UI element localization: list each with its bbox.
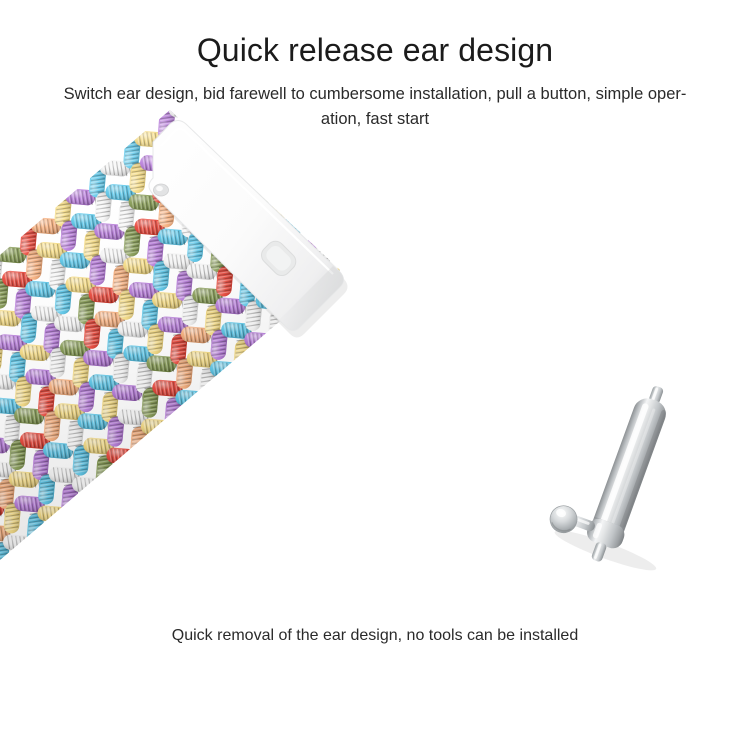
braid-strand-segment: [31, 184, 49, 217]
braid-strand-segment: [181, 414, 214, 432]
braid-strand-segment: [193, 430, 211, 463]
braid-strand-segment: [342, 396, 375, 414]
braid-strand-segment: [41, 178, 74, 196]
braid-strand-segment: [337, 339, 355, 372]
braid-strand-segment: [371, 222, 389, 255]
braid-strand-segment: [342, 308, 375, 326]
braid-strand-segment: [383, 567, 416, 585]
connector-pin-nub: [154, 184, 169, 196]
braid-strand-segment: [262, 460, 280, 493]
braid-strand-segment: [268, 396, 286, 429]
braid-strand-segment: [313, 361, 346, 379]
braid-strand-segment: [175, 477, 208, 495]
braid-strand-segment: [319, 177, 337, 210]
braid-strand-segment: [291, 494, 309, 527]
product-feature-image: Quick release ear design Switch ear desi…: [0, 0, 750, 750]
braid-strand-segment: [182, 557, 200, 590]
braid-strand-segment: [307, 337, 340, 355]
braid-strand-segment: [36, 153, 69, 171]
braid-strand-segment: [280, 533, 298, 566]
subtitle-line-1: Switch ear design, bid farewell to cumbe…: [25, 82, 725, 107]
braid-strand-segment: [0, 189, 9, 222]
braid-strand-segment: [418, 505, 436, 538]
braid-strand-segment: [406, 281, 424, 314]
braid-strand-segment: [95, 574, 128, 592]
braid-strand-segment: [169, 540, 202, 558]
braid-strand-segment: [204, 391, 222, 424]
braid-strand-segment: [198, 575, 231, 593]
braid-strand-segment: [164, 516, 197, 534]
braid-strand-segment: [43, 529, 76, 547]
braid-strand-segment: [164, 604, 197, 622]
braid-strand-segment: [245, 562, 263, 595]
braid-strand-segment: [211, 591, 229, 624]
braid-strand-segment: [267, 517, 300, 535]
braid-strand-segment: [302, 400, 335, 418]
braid-strand-segment: [158, 579, 191, 597]
braid-strand-segment: [285, 470, 303, 503]
braid-strand-segment: [382, 183, 400, 216]
braid-strand-segment: [364, 142, 397, 160]
braid-strand-segment: [210, 448, 243, 466]
braid-strand-segment: [297, 431, 315, 464]
braid-strand-segment: [400, 465, 433, 483]
braid-strand-segment: [307, 425, 340, 443]
braid-strand-segment: [354, 533, 387, 551]
braid-strand-segment: [296, 343, 314, 376]
braid-strand-segment: [354, 412, 372, 445]
braid-strand-segment: [412, 481, 430, 514]
braid-strand-segment: [353, 269, 386, 287]
braid-strand-segment: [237, 131, 270, 149]
braid-strand-segment: [60, 603, 93, 621]
braid-strand-segment: [65, 155, 83, 188]
braid-strand-segment: [278, 390, 311, 408]
braid-strand-segment: [260, 141, 293, 159]
braid-strand-segment: [21, 574, 39, 607]
braid-strand-segment: [112, 472, 145, 490]
braid-strand-segment: [95, 541, 113, 574]
braid-strand-segment: [377, 246, 395, 279]
braid-strand-segment: [106, 535, 139, 553]
braid-strand-segment: [330, 435, 363, 453]
spring-bar-pin-image: [510, 375, 740, 590]
braid-strand-segment: [383, 447, 401, 480]
braid-strand-segment: [7, 207, 40, 225]
braid-strand-segment: [295, 200, 328, 218]
braid-strand-segment: [325, 586, 358, 604]
braid-strand-segment: [159, 459, 177, 492]
braid-strand-segment: [387, 240, 420, 258]
braid-strand-segment: [360, 557, 393, 575]
braid-strand-segment: [0, 563, 1, 581]
braid-strand-segment: [204, 424, 237, 442]
braid-strand-segment: [331, 523, 364, 541]
braid-strand-segment: [256, 556, 289, 574]
braid-strand-segment: [400, 256, 418, 289]
braid-strand-segment: [170, 420, 188, 453]
braid-strand-segment: [193, 518, 211, 551]
braid-strand-segment: [84, 580, 102, 613]
braid-strand-segment: [371, 310, 389, 343]
braid-strand-segment: [100, 510, 133, 528]
braid-strand-segment: [37, 593, 70, 611]
braid-strand-segment: [279, 182, 297, 215]
braid-strand-segment: [72, 564, 105, 582]
braid-strand-segment: [90, 517, 108, 550]
braid-strand-segment: [331, 314, 349, 347]
braid-strand-segment: [382, 216, 415, 234]
braid-strand-segment: [262, 581, 295, 599]
braid-strand-segment: [188, 581, 206, 614]
braid-strand-segment: [389, 471, 407, 504]
braid-strand-segment: [394, 440, 427, 458]
braid-strand-segment: [101, 598, 134, 616]
braid-strand-segment: [371, 430, 404, 448]
braid-strand-segment: [370, 342, 403, 360]
watch-band-image: [0, 150, 470, 690]
braid-strand-segment: [233, 425, 251, 458]
braid-strand-segment: [8, 558, 41, 576]
braid-strand-segment: [124, 488, 142, 521]
braid-strand-segment: [347, 245, 380, 263]
subtitle: Switch ear design, bid farewell to cumbe…: [25, 69, 725, 132]
braid-strand-segment: [309, 568, 327, 601]
braid-strand-segment: [412, 602, 445, 620]
braid-strand-segment: [324, 147, 357, 165]
braid-strand-segment: [389, 383, 407, 416]
braid-strand-segment: [418, 418, 436, 451]
braid-strand-segment: [198, 487, 231, 505]
braid-strand-segment: [410, 250, 443, 268]
braid-strand-segment: [296, 464, 329, 482]
braid-strand-segment: [389, 592, 422, 610]
braid-strand-segment: [124, 608, 157, 626]
braid-strand-segment: [376, 367, 409, 385]
braid-strand-segment: [343, 539, 361, 572]
braid-strand-segment: [250, 356, 283, 374]
braid-strand-segment: [135, 482, 168, 500]
braid-strand-segment: [238, 395, 271, 413]
braid-strand-segment: [77, 500, 110, 518]
braid-strand-segment: [257, 523, 275, 556]
braid-strand-segment: [135, 569, 168, 587]
braid-strand-segment: [250, 147, 268, 180]
band-weave: [0, 44, 445, 635]
braid-strand-segment: [411, 130, 429, 163]
spring-bar-assembly: [541, 375, 715, 581]
braid-strand-segment: [395, 408, 413, 441]
braid-strand-segment: [256, 435, 274, 468]
braid-strand-segment: [315, 592, 333, 625]
braid-strand-segment: [349, 563, 367, 596]
braid-strand-segment: [365, 406, 398, 424]
braid-strand-segment: [227, 522, 260, 540]
braid-strand-segment: [291, 406, 309, 439]
braid-strand-segment: [273, 454, 306, 472]
braid-strand-segment: [348, 212, 366, 245]
braid-strand-segment: [273, 366, 306, 384]
braid-strand-segment: [216, 528, 234, 561]
spring-bar-illustration: [510, 375, 740, 590]
braid-strand-segment: [399, 377, 432, 395]
braid-strand-segment: [164, 483, 182, 516]
braid-strand-segment: [372, 573, 390, 606]
braid-strand-segment: [221, 585, 254, 603]
braid-strand-segment: [76, 149, 109, 167]
braid-strand-segment: [0, 564, 16, 597]
braid-strand-segment: [302, 368, 320, 401]
braid-strand-segment: [388, 504, 421, 522]
braid-strand-segment: [238, 483, 271, 501]
braid-strand-segment: [302, 488, 335, 506]
braid-strand-segment: [59, 131, 77, 164]
braid-strand-segment: [325, 498, 358, 516]
braid-strand-segment: [360, 436, 378, 469]
braid-strand-segment: [101, 478, 119, 511]
braid-strand-segment: [267, 429, 300, 447]
braid-strand-segment: [320, 529, 338, 562]
braid-strand-segment: [331, 402, 349, 435]
braid-strand-segment: [233, 546, 266, 564]
braid-strand-segment: [169, 453, 202, 471]
braid-strand-segment: [135, 449, 153, 482]
braid-strand-segment: [349, 475, 367, 508]
braid-strand-segment: [222, 552, 240, 585]
footer-caption: Quick removal of the ear design, no tool…: [0, 625, 750, 647]
braid-strand-segment: [412, 569, 430, 602]
braid-strand-segment: [342, 187, 360, 220]
braid-strand-segment: [318, 210, 351, 228]
braid-strand-segment: [407, 544, 425, 577]
braid-strand-segment: [251, 587, 269, 620]
braid-strand-segment: [325, 378, 343, 411]
braid-strand-segment: [384, 534, 402, 567]
braid-strand-segment: [360, 349, 378, 382]
braid-strand-segment: [215, 385, 248, 403]
braid-strand-segment: [0, 597, 30, 615]
braid-strand-segment: [326, 465, 344, 498]
braid-strand-segment: [378, 510, 396, 543]
braid-strand-segment: [130, 512, 148, 545]
watch-band-illustration: [0, 150, 470, 690]
braid-strand-segment: [405, 401, 438, 419]
subtitle-line-2: ation, fast start: [25, 107, 725, 132]
braid-strand-segment: [411, 338, 444, 356]
page-title: Quick release ear design: [0, 0, 750, 69]
braid-strand-segment: [411, 217, 429, 250]
braid-strand-segment: [290, 143, 308, 176]
braid-strand-segment: [394, 320, 412, 353]
braid-strand-segment: [67, 507, 85, 540]
braid-strand-segment: [159, 547, 177, 580]
braid-strand-segment: [314, 504, 332, 537]
braid-strand-segment: [1, 182, 34, 200]
braid-strand-segment: [301, 137, 334, 155]
braid-strand-segment: [187, 493, 205, 526]
braid-strand-segment: [320, 441, 338, 474]
braid-strand-segment: [324, 235, 357, 253]
braid-strand-segment: [347, 332, 380, 350]
braid-strand-segment: [244, 419, 277, 437]
braid-strand-segment: [222, 464, 240, 497]
braid-strand-segment: [359, 469, 392, 487]
braid-strand-segment: [394, 528, 427, 546]
braid-strand-segment: [376, 279, 409, 297]
braid-strand-segment: [336, 459, 369, 477]
braid-strand-segment: [313, 153, 331, 186]
braid-strand-segment: [204, 512, 237, 530]
braid-strand-segment: [193, 550, 226, 568]
braid-strand-segment: [393, 177, 426, 195]
braid-strand-segment: [330, 171, 363, 189]
braid-strand-segment: [0, 213, 15, 246]
braid-strand-segment: [336, 371, 369, 389]
braid-strand-segment: [366, 373, 384, 406]
braid-strand-segment: [153, 522, 171, 555]
braid-strand-segment: [273, 333, 291, 366]
braid-strand-segment: [141, 506, 174, 524]
braid-strand-segment: [262, 493, 295, 511]
braid-strand-segment: [365, 285, 383, 318]
braid-strand-segment: [129, 545, 162, 563]
braid-strand-segment: [25, 160, 43, 193]
braid-strand-segment: [382, 304, 415, 322]
braid-strand-segment: [365, 494, 398, 512]
braid-strand-segment: [376, 158, 394, 191]
braid-strand-segment: [55, 546, 73, 579]
braid-strand-segment: [289, 176, 322, 194]
braid-strand-segment: [353, 148, 371, 181]
braid-strand-segment: [387, 152, 420, 170]
braid-strand-segment: [285, 591, 318, 609]
braid-strand-segment: [262, 372, 280, 405]
braid-strand-segment: [296, 552, 329, 570]
braid-strand-segment: [358, 206, 391, 224]
braid-strand-segment: [290, 527, 323, 545]
braid-strand-segment: [228, 489, 246, 522]
braid-strand-segment: [239, 362, 257, 395]
braid-strand-segment: [61, 570, 79, 603]
braid-strand-segment: [266, 166, 299, 184]
braid-strand-segment: [147, 586, 165, 619]
braid-strand-segment: [348, 596, 381, 614]
braid-strand-segment: [405, 193, 423, 226]
braid-strand-segment: [355, 500, 373, 533]
braid-strand-segment: [199, 454, 217, 487]
braid-strand-segment: [119, 551, 137, 584]
braid-strand-segment: [146, 443, 179, 461]
braid-strand-segment: [32, 536, 50, 569]
braid-strand-segment: [400, 344, 418, 377]
braid-strand-segment: [405, 314, 438, 332]
braid-strand-segment: [31, 568, 64, 586]
braid-strand-segment: [319, 562, 352, 580]
braid-strand-segment: [227, 401, 245, 434]
braid-strand-segment: [286, 558, 304, 591]
braid-strand-segment: [124, 576, 142, 609]
header-text-block: Quick release ear design Switch ear desi…: [0, 0, 750, 132]
braid-strand-segment: [353, 181, 386, 199]
braid-strand-segment: [417, 154, 435, 187]
braid-strand-segment: [233, 458, 266, 476]
braid-strand-segment: [66, 539, 99, 557]
braid-strand-segment: [251, 499, 269, 532]
